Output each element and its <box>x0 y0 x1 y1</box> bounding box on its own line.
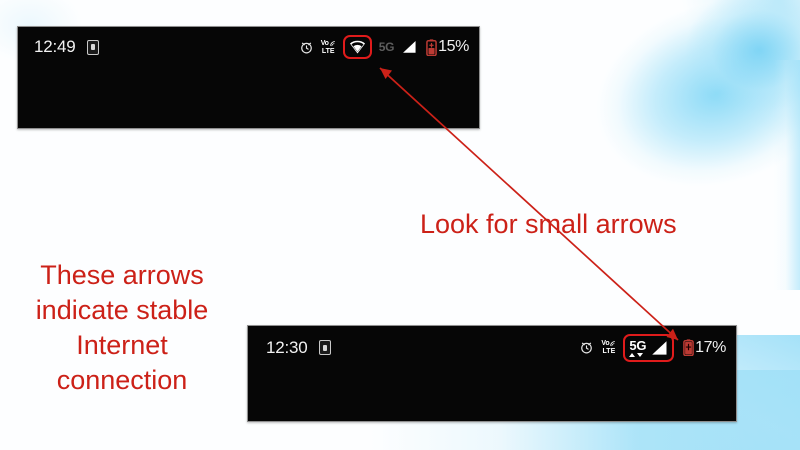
annotation-left-line-1: These arrows <box>8 258 236 293</box>
cellular-signal-icon-bottom <box>650 340 668 356</box>
annotation-left-line-3: Internet <box>8 328 236 363</box>
highlight-box-wifi <box>343 35 372 59</box>
volte-vo-label: Vo <box>601 340 609 347</box>
status-icon-tray-top: Vo LTE 5G <box>299 35 469 59</box>
status-bar-top-row: 12:49 Vo LT <box>18 27 479 61</box>
annotation-left-line-2: indicate stable <box>8 293 236 328</box>
data-arrow-up-icon <box>629 353 635 357</box>
annotation-left-line-4: connection <box>8 363 236 398</box>
status-bar-top: 12:49 Vo LT <box>17 26 480 129</box>
background-wash-right-edge <box>774 60 800 290</box>
annotation-right: Look for small arrows <box>420 209 677 240</box>
clock-top: 12:49 <box>34 37 76 57</box>
status-bar-bottom: 12:30 Vo LT <box>247 325 737 422</box>
battery-group-bottom: 17% <box>683 339 726 357</box>
volte-icon: Vo LTE <box>601 340 616 355</box>
battery-percent-top: 15% <box>438 38 469 56</box>
battery-group-top: 15% <box>426 38 469 56</box>
status-icon-tray-bottom: Vo LTE 5G <box>579 334 726 362</box>
battery-percent-bottom: 17% <box>695 339 726 357</box>
clock-bottom: 12:30 <box>266 338 308 358</box>
highlight-box-5g-signal: 5G <box>623 334 674 362</box>
network-5g-group: 5G <box>629 339 646 357</box>
battery-icon-top <box>426 39 437 56</box>
volte-icon: Vo LTE <box>321 40 336 55</box>
cellular-signal-icon-top <box>401 40 417 54</box>
sim-card-icon <box>87 40 99 55</box>
volte-lte-label: LTE <box>322 48 335 55</box>
alarm-icon <box>299 40 314 55</box>
battery-icon-bottom <box>683 339 694 356</box>
volte-vo-label: Vo <box>321 40 329 47</box>
data-arrows-icon <box>629 353 643 357</box>
network-5g-label-bottom: 5G <box>629 339 646 352</box>
alarm-icon <box>579 340 594 355</box>
data-arrow-down-icon <box>637 353 643 357</box>
annotation-left: These arrows indicate stable Internet co… <box>8 258 236 398</box>
status-bar-bottom-row: 12:30 Vo LT <box>248 326 736 360</box>
sim-card-icon <box>319 340 331 355</box>
volte-lte-label: LTE <box>603 348 616 355</box>
network-5g-label-top: 5G <box>379 40 394 54</box>
wifi-icon <box>349 40 366 54</box>
background-wash-top-right-2 <box>640 0 800 140</box>
